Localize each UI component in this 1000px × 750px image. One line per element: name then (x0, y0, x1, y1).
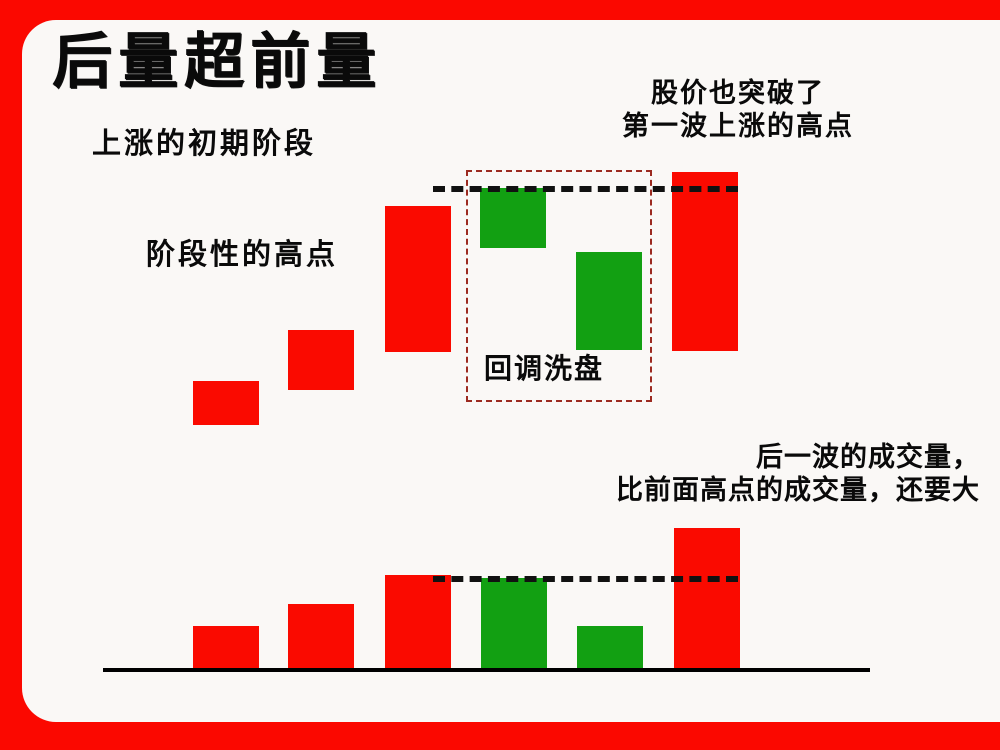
volume-bar-5 (577, 626, 643, 670)
annotation-volume: 后一波的成交量， 比前面高点的成交量，还要大 (470, 442, 980, 508)
annotation-breakout-line1: 股价也突破了 (651, 78, 825, 109)
volume-baseline-axis (103, 668, 870, 672)
candle-body-1 (193, 381, 259, 425)
volume-bar-2 (288, 604, 354, 670)
annotation-breakout-line2: 第一波上涨的高点 (622, 111, 854, 142)
washout-dashed-box (466, 170, 652, 402)
volume-bar-3 (385, 575, 451, 670)
annotation-breakout: 股价也突破了 第一波上涨的高点 (622, 78, 854, 144)
volume-high-dashed-line (433, 576, 738, 582)
candle-body-6 (672, 172, 738, 351)
annotation-stage-high: 阶段性的高点 (146, 237, 338, 272)
page-title: 后量超前量 (52, 26, 382, 99)
slide-canvas: 后量超前量 上涨的初期阶段 股价也突破了 第一波上涨的高点 阶段性的高点 回调洗… (0, 0, 1000, 750)
annotation-volume-line2: 比前面高点的成交量，还要大 (616, 475, 980, 506)
annotation-volume-line1: 后一波的成交量， (756, 442, 980, 473)
volume-bar-1 (193, 626, 259, 670)
page-subtitle: 上涨的初期阶段 (92, 126, 316, 161)
volume-bar-6 (674, 528, 740, 670)
candle-body-3 (385, 206, 451, 352)
volume-bar-4 (481, 578, 547, 670)
candle-body-2 (288, 330, 354, 390)
